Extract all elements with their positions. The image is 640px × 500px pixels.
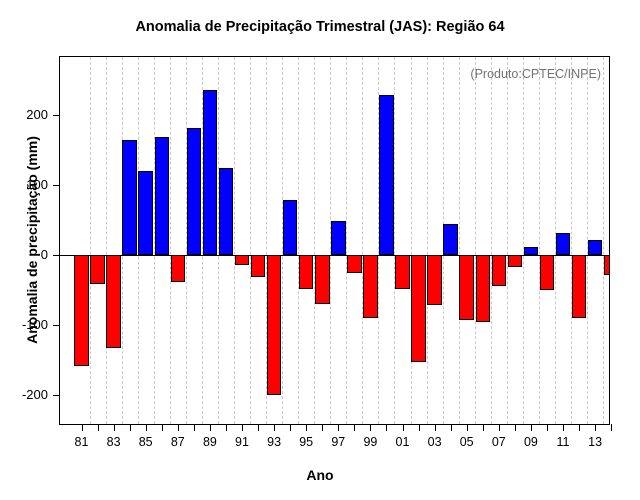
bar [203,90,218,255]
bar [267,255,282,395]
x-axis-tick [435,424,436,431]
gridline [507,57,508,424]
x-axis-tick [499,424,500,431]
bar [90,255,105,284]
bar [106,255,121,348]
gridline [346,57,347,424]
gridline [314,57,315,424]
gridline [90,57,91,424]
x-axis-tick-label: 93 [259,435,289,449]
gridline [234,57,235,424]
y-axis-tick [53,185,60,186]
chart-container: Anomalia de Precipitação Trimestral (JAS… [0,0,640,500]
gridline [475,57,476,424]
bar [155,137,170,255]
bar [443,224,458,255]
bar [476,255,491,322]
bar [556,233,571,255]
y-axis-tick [53,255,60,256]
x-axis-tick [226,424,227,431]
x-axis-tick-label: 89 [195,435,225,449]
gridline [298,57,299,424]
y-axis-tick [53,325,60,326]
x-axis-tick [274,424,275,431]
gridline [394,57,395,424]
y-axis-tick-label: 100 [0,177,48,192]
chart-title: Anomalia de Precipitação Trimestral (JAS… [0,19,640,35]
x-axis-tick [579,424,580,431]
x-axis-tick-label: 07 [484,435,514,449]
y-axis-tick [53,395,60,396]
x-axis-tick [354,424,355,431]
bar [459,255,474,320]
bar [540,255,555,290]
x-axis-tick [162,424,163,431]
bar [74,255,89,366]
x-axis-tick [611,424,612,431]
bar [379,95,394,255]
x-axis-tick [210,424,211,431]
x-axis-tick [338,424,339,431]
x-axis-tick [563,424,564,431]
plot-area: (Produto:CPTEC/INPE) 2001000-100-200 818… [59,56,610,425]
bar [572,255,587,318]
x-axis-tick-label: 83 [99,435,129,449]
bar [283,200,298,255]
x-axis-tick-label: 81 [67,435,97,449]
x-axis-tick [419,424,420,431]
gridline [603,57,604,424]
gridline [362,57,363,424]
gridline [427,57,428,424]
gridline [411,57,412,424]
x-axis-tick [98,424,99,431]
source-annotation: (Produto:CPTEC/INPE) [470,67,601,81]
x-axis-tick-label: 97 [323,435,353,449]
x-axis-tick [467,424,468,431]
gridline [170,57,171,424]
x-axis-tick [82,424,83,431]
gridline [571,57,572,424]
gridline [250,57,251,424]
bar [524,247,539,255]
x-axis-tick-label: 91 [227,435,257,449]
bar [363,255,378,318]
x-axis-tick [595,424,596,431]
bar [588,240,603,255]
x-axis-tick [547,424,548,431]
bar [492,255,507,286]
y-axis-tick-label: 0 [0,247,48,262]
x-axis-tick-label: 09 [516,435,546,449]
x-axis-tick [146,424,147,431]
x-axis-tick-label: 03 [420,435,450,449]
x-axis-tick [386,424,387,431]
x-axis-tick-label: 95 [291,435,321,449]
y-axis-tick-label: 200 [0,107,48,122]
gridline [459,57,460,424]
bar [299,255,314,289]
x-axis-tick-label: 99 [355,435,385,449]
plot-inner [60,57,609,424]
x-axis-tick [194,424,195,431]
x-axis-tick [290,424,291,431]
bar [138,171,153,255]
x-axis-tick [130,424,131,431]
x-axis-tick [322,424,323,431]
y-axis-tick-label: -100 [0,317,48,332]
x-axis-tick [451,424,452,431]
x-axis-tick-label: 11 [548,435,578,449]
x-axis-label: Ano [0,467,640,483]
bar [219,168,234,256]
bar [235,255,250,265]
x-axis-tick [258,424,259,431]
bar [395,255,410,289]
x-axis-tick [531,424,532,431]
x-axis-tick [114,424,115,431]
x-axis-tick-label: 01 [388,435,418,449]
bar [251,255,266,277]
zero-baseline [60,255,609,256]
x-axis-tick-label: 13 [580,435,610,449]
gridline [523,57,524,424]
x-axis-tick-label: 05 [452,435,482,449]
bar [171,255,186,282]
bar [604,255,609,275]
x-axis-tick [370,424,371,431]
x-axis-tick [242,424,243,431]
bar [427,255,442,305]
x-axis-tick [483,424,484,431]
bar [315,255,330,304]
bar [122,140,137,256]
bar [508,255,523,267]
x-axis-tick [403,424,404,431]
y-axis-tick-label: -200 [0,387,48,402]
y-axis-tick [53,115,60,116]
x-axis-tick-label: 87 [163,435,193,449]
bar [347,255,362,273]
x-axis-tick [306,424,307,431]
x-axis-tick [178,424,179,431]
gridline [491,57,492,424]
x-axis-tick-label: 85 [131,435,161,449]
bar [411,255,426,362]
bar [187,128,202,255]
gridline [539,57,540,424]
gridline [106,57,107,424]
bar [331,221,346,255]
x-axis-tick [515,424,516,431]
